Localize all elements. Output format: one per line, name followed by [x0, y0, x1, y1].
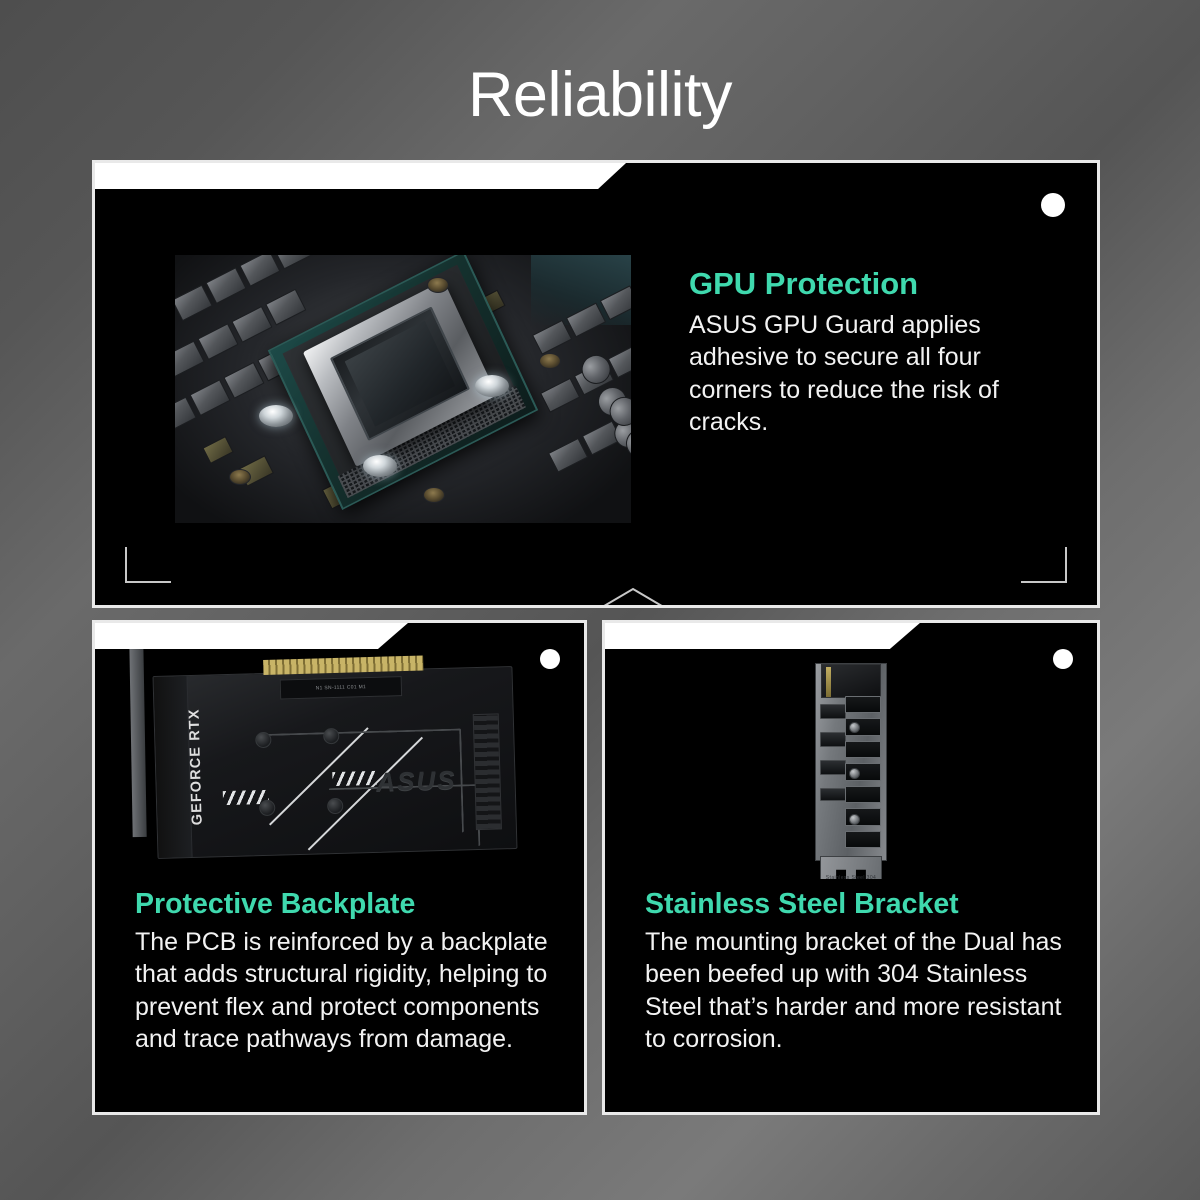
adhesive-dot-icon — [259, 405, 293, 427]
displayport-port-icon — [820, 732, 846, 747]
corner-bracket-bottom-left-icon — [125, 547, 171, 583]
card-top-accent-bar — [95, 623, 408, 649]
stainless-steel-io-bracket-image: Stainless Steel 304 — [605, 649, 1097, 879]
corner-bracket-bottom-right-icon — [1021, 547, 1067, 583]
card-top-accent-bar — [605, 623, 920, 649]
asus-logo: ASUS — [376, 765, 457, 798]
displayport-port-icon — [820, 760, 846, 775]
page-title: Reliability — [0, 64, 1200, 127]
feature-title: Protective Backplate — [135, 889, 558, 921]
card-top-accent-bar — [95, 163, 626, 189]
feature-description: ASUS GPU Guard applies adhesive to secur… — [689, 309, 1041, 439]
gpu-die-closeup-image — [175, 255, 631, 523]
feature-description: The PCB is reinforced by a backplate tha… — [135, 926, 558, 1056]
backplate-brand-label: GEFORCE RTX — [186, 682, 207, 850]
feature-title: Stainless Steel Bracket — [645, 889, 1071, 921]
graphics-card-backplate-image: GEFORCE RTX N1 SN-1111 C01 M1 ASUS — [95, 649, 584, 879]
hdmi-port-icon — [820, 788, 846, 801]
displayport-port-icon — [820, 704, 846, 719]
feature-title: GPU Protection — [689, 267, 1041, 302]
feature-text-block: GPU Protection ASUS GPU Guard applies ad… — [689, 255, 1041, 439]
adhesive-dot-icon — [363, 455, 397, 477]
adhesive-dot-icon — [475, 375, 509, 397]
feature-card-stainless-steel-bracket[interactable]: Stainless Steel 304 Stainless Steel Brac… — [602, 620, 1100, 1115]
backplate-sticker-label: N1 SN-1111 C01 M1 — [280, 676, 403, 699]
status-dot-icon — [540, 649, 560, 669]
bracket-material-stamp: Stainless Steel 304 — [816, 875, 886, 879]
status-dot-icon — [1041, 193, 1065, 217]
feature-card-protective-backplate[interactable]: GEFORCE RTX N1 SN-1111 C01 M1 ASUS Prote… — [92, 620, 587, 1115]
status-dot-icon — [1053, 649, 1073, 669]
feature-description: The mounting bracket of the Dual has bee… — [645, 926, 1071, 1056]
feature-text-block: Protective Backplate The PCB is reinforc… — [135, 889, 558, 1056]
feature-text-block: Stainless Steel Bracket The mounting bra… — [645, 889, 1071, 1056]
feature-card-gpu-protection[interactable]: GPU Protection ASUS GPU Guard applies ad… — [92, 160, 1100, 608]
